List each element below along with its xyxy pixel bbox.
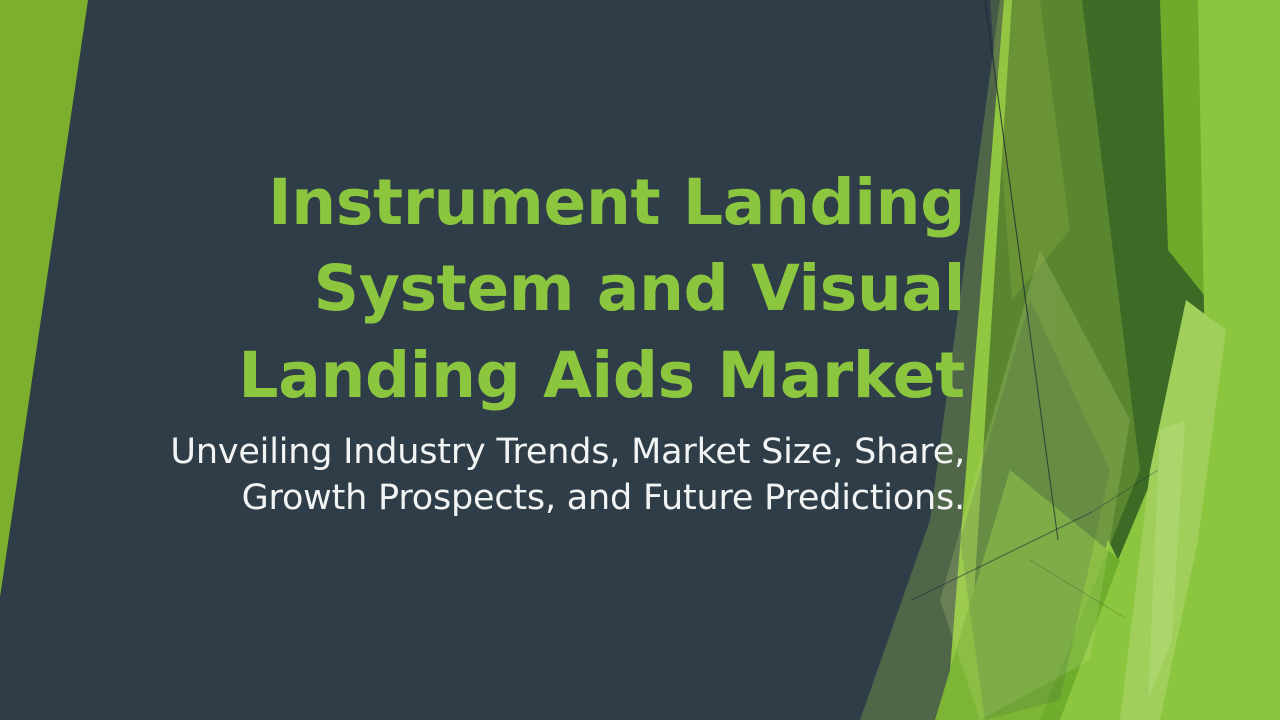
right-deep-green-diamond [1040, 0, 1214, 560]
right-pale-gleam [1148, 420, 1185, 700]
right-base-bright-green [946, 0, 1280, 720]
olive-translucent-overlay-upper [990, 0, 1070, 300]
page-title: Instrument Landing System and Visual Lan… [150, 160, 965, 419]
right-pale-highlight-facet [1120, 300, 1226, 720]
dark-shade-facet [960, 300, 1110, 720]
title-text-block: Instrument Landing System and Visual Lan… [150, 160, 965, 521]
right-mid-green-sliver [1160, 0, 1208, 300]
hairline-cross-left [912, 512, 1092, 600]
hairline-diagonal-upper [985, 0, 1028, 318]
hairline-diagonal-lower [1028, 318, 1058, 540]
title-slide: Instrument Landing System and Visual Lan… [0, 0, 1280, 720]
olive-translucent-overlay-mid [940, 250, 1130, 720]
hairline-cross-right [1092, 470, 1158, 512]
left-green-wedge [0, 0, 88, 597]
right-deep-green-band [966, 0, 1160, 720]
hairline-short-lower [1030, 560, 1125, 618]
slide-subtitle: Unveiling Industry Trends, Market Size, … [150, 429, 965, 521]
right-bright-strip [1150, 0, 1280, 720]
